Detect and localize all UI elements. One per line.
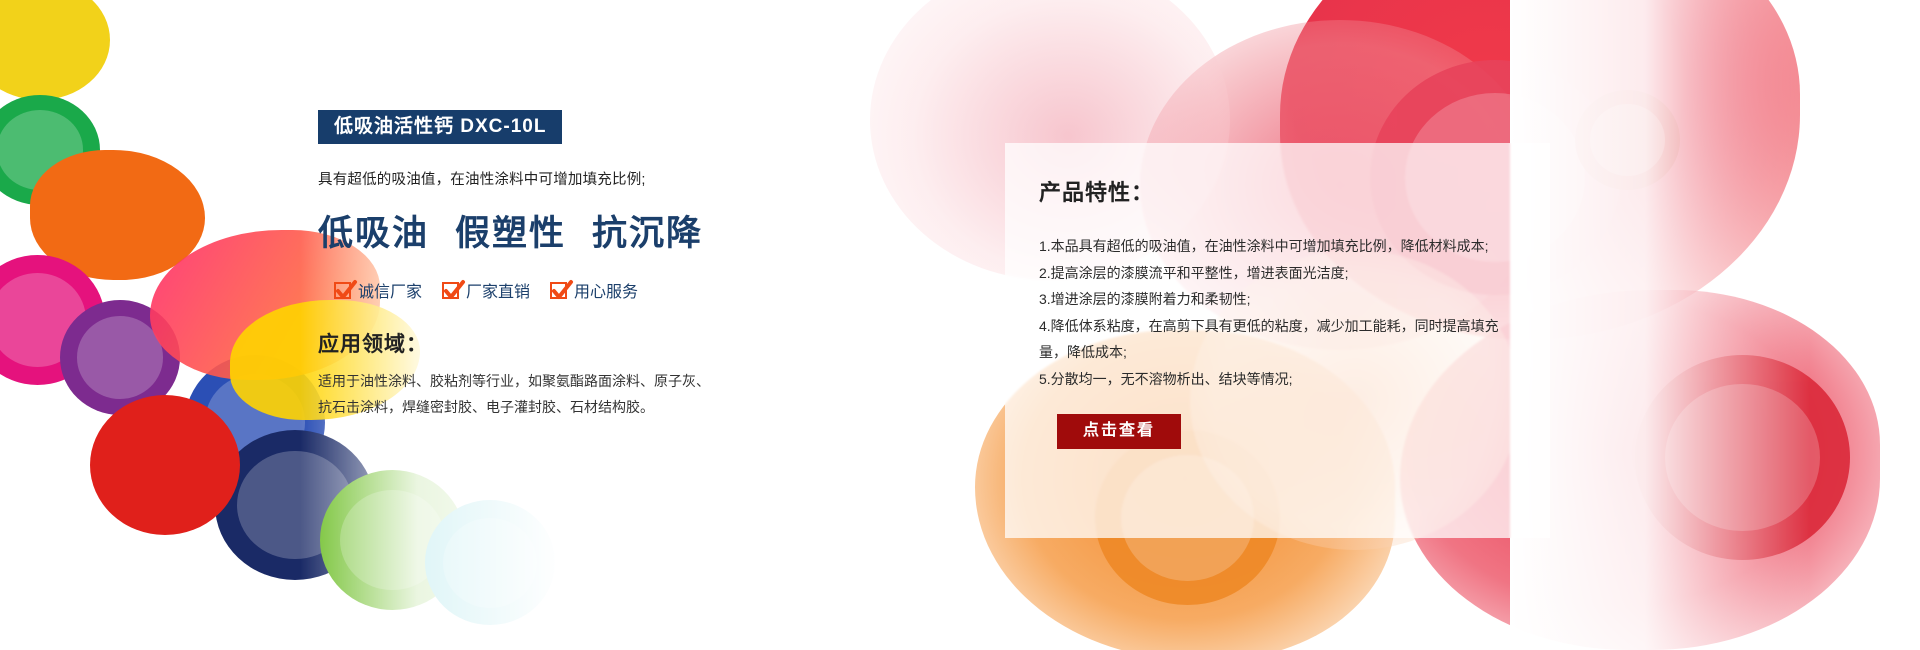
check-mark-icon xyxy=(442,282,459,299)
paint-ring-crimson-bottom xyxy=(1635,355,1850,560)
right-white-fade xyxy=(1510,0,1810,650)
paint-ring-purple xyxy=(60,300,180,415)
paint-ring-lightgreen xyxy=(320,470,465,610)
product-title-badge: 低吸油活性钙 DXC-10L xyxy=(318,110,562,144)
trust-badge-label: 用心服务 xyxy=(574,278,638,302)
keyword-2: 假塑性 xyxy=(455,214,566,253)
left-content-column: 低吸油活性钙 DXC-10L 具有超低的吸油值，在油性涂料中可增加填充比例; 低… xyxy=(318,110,738,420)
trust-badge-3: 用心服务 xyxy=(550,278,638,302)
product-subheading: 具有超低的吸油值，在油性涂料中可增加填充比例; xyxy=(318,168,738,189)
feature-item: 1.本品具有超低的吸油值，在油性涂料中可增加填充比例，降低材料成本; xyxy=(1039,233,1516,260)
keyword-3: 抗沉降 xyxy=(592,214,703,253)
keyword-list: 低吸油假塑性抗沉降 xyxy=(318,205,738,256)
feature-item: 4.降低体系粘度，在高剪下具有更低的粘度，减少加工能耗，同时提高填充量，降低成本… xyxy=(1039,313,1516,366)
trust-badge-1: 诚信厂家 xyxy=(334,278,422,302)
view-details-button[interactable]: 点击查看 xyxy=(1057,414,1181,449)
feature-item: 5.分散均一，无不溶物析出、结块等情况; xyxy=(1039,366,1516,393)
keyword-1: 低吸油 xyxy=(318,214,429,253)
feature-list: 1.本品具有超低的吸油值，在油性涂料中可增加填充比例，降低材料成本; 2.提高涂… xyxy=(1039,233,1516,392)
paint-blob-red xyxy=(90,395,240,535)
check-mark-icon xyxy=(550,282,567,299)
paint-blob-yellow xyxy=(0,0,110,100)
feature-item: 3.增进涂层的漆膜附着力和柔韧性; xyxy=(1039,286,1516,313)
application-heading: 应用领域： xyxy=(318,328,738,358)
paint-blob-orange xyxy=(30,150,205,280)
paint-ring-red-small xyxy=(1575,90,1680,190)
check-mark-icon xyxy=(334,282,351,299)
trust-badge-label: 诚信厂家 xyxy=(358,278,422,302)
trust-badge-2: 厂家直销 xyxy=(442,278,530,302)
paint-ring-magenta xyxy=(0,255,105,385)
application-body: 适用于油性涂料、胶粘剂等行业，如聚氨酯路面涂料、原子灰、抗石击涂料，焊缝密封胶、… xyxy=(318,368,718,420)
paint-ring-cyan xyxy=(425,500,555,625)
product-features-panel: 产品特性： 1.本品具有超低的吸油值，在油性涂料中可增加填充比例，降低材料成本;… xyxy=(1005,143,1550,538)
trust-badge-row: 诚信厂家 厂家直销 用心服务 xyxy=(334,278,738,302)
paint-ring-blue xyxy=(185,355,325,490)
panel-title: 产品特性： xyxy=(1039,175,1516,207)
feature-item: 2.提高涂层的漆膜流平和平整性，增进表面光洁度; xyxy=(1039,260,1516,287)
paint-ring-navy xyxy=(215,430,375,580)
promo-banner: 低吸油活性钙 DXC-10L 具有超低的吸油值，在油性涂料中可增加填充比例; 低… xyxy=(0,0,1920,650)
paint-ring-green xyxy=(0,95,100,205)
trust-badge-label: 厂家直销 xyxy=(466,278,530,302)
